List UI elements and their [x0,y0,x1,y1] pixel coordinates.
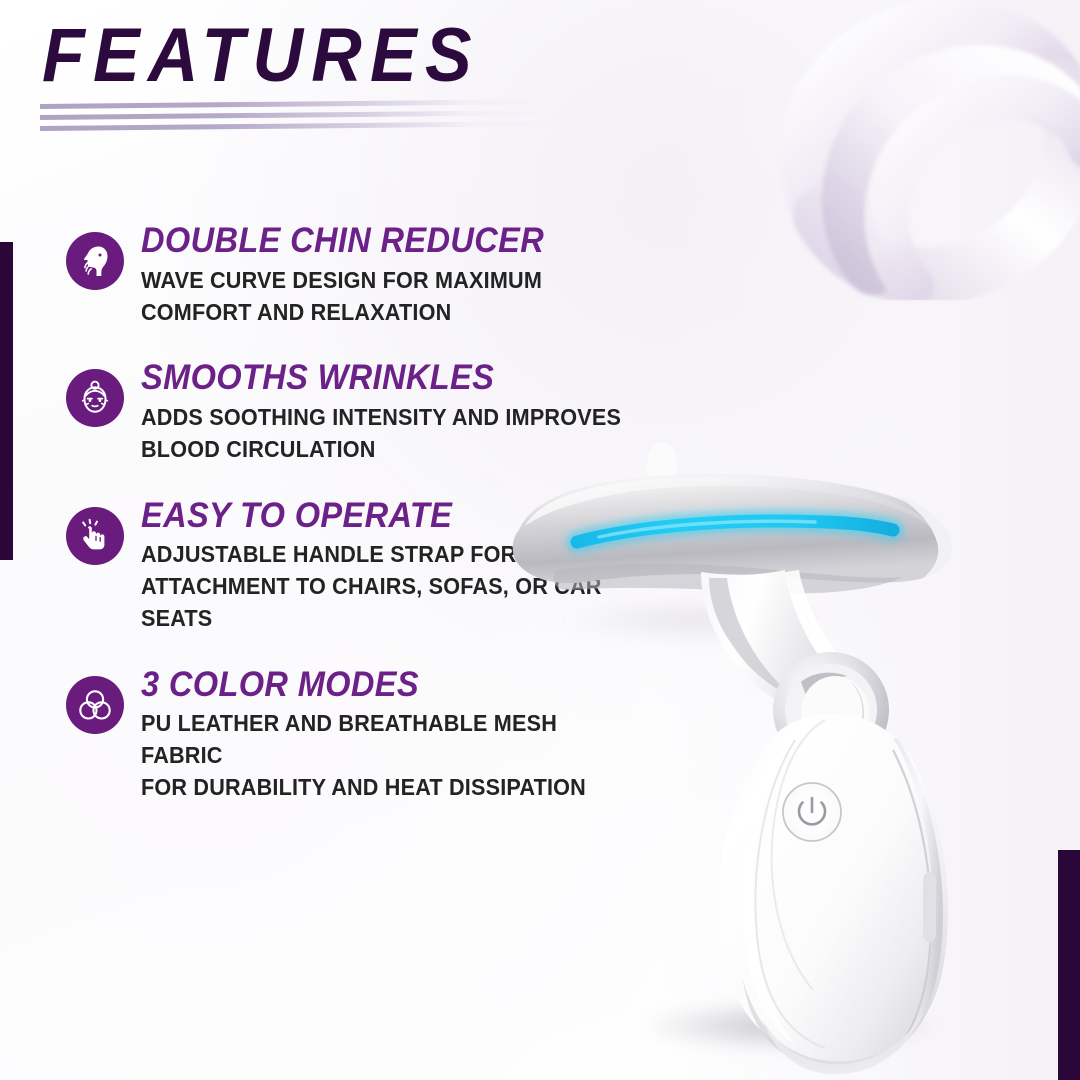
three-color-circles-icon [66,676,124,734]
device-drop-shadow [640,1000,940,1052]
feature-text: SMOOTHS WRINKLES ADDS SOOTHING INTENSITY… [141,355,666,465]
feature-description: PU LEATHER AND BREATHABLE MESH FABRIC FO… [141,708,635,803]
side-button [923,872,936,942]
rule-line-2 [40,110,560,120]
features-poster: FEATURES DOUBLE CHIN REDUCER WAVE CURVE … [0,0,1080,1080]
power-button [783,783,841,841]
background-tint-right [660,0,1080,1080]
feature-title: SMOOTHS WRINKLES [141,359,629,397]
feature-text: 3 COLOR MODES PU LEATHER AND BREATHABLE … [141,662,666,804]
feature-title: 3 COLOR MODES [141,666,629,704]
right-accent-bar [1058,850,1080,1080]
feature-text: DOUBLE CHIN REDUCER WAVE CURVE DESIGN FO… [141,218,666,328]
title-underline-rules [40,104,560,138]
feature-title: EASY TO OPERATE [141,497,629,535]
header: FEATURES [42,18,682,94]
wrinkled-face-icon [66,369,124,427]
left-accent-bar [0,242,13,560]
rule-line-1 [40,99,560,109]
device-upper-shadow [560,600,820,640]
tapping-hand-icon [66,507,124,565]
feature-item: DOUBLE CHIN REDUCER WAVE CURVE DESIGN FO… [66,218,666,328]
page-title: FEATURES [42,18,631,94]
feature-item: 3 COLOR MODES PU LEATHER AND BREATHABLE … [66,662,666,804]
feature-item: SMOOTHS WRINKLES ADDS SOOTHING INTENSITY… [66,355,666,465]
feature-description: WAVE CURVE DESIGN FOR MAXIMUM COMFORT AN… [141,265,635,328]
lavender-torus-knot-decoration [760,0,1080,300]
rule-line-3 [40,121,560,131]
face-chin-profile-icon [66,232,124,290]
feature-title: DOUBLE CHIN REDUCER [141,222,629,260]
feature-description: ADDS SOOTHING INTENSITY AND IMPROVES BLO… [141,402,635,465]
rotating-joint [773,652,889,768]
feature-list: DOUBLE CHIN REDUCER WAVE CURVE DESIGN FO… [66,218,666,831]
